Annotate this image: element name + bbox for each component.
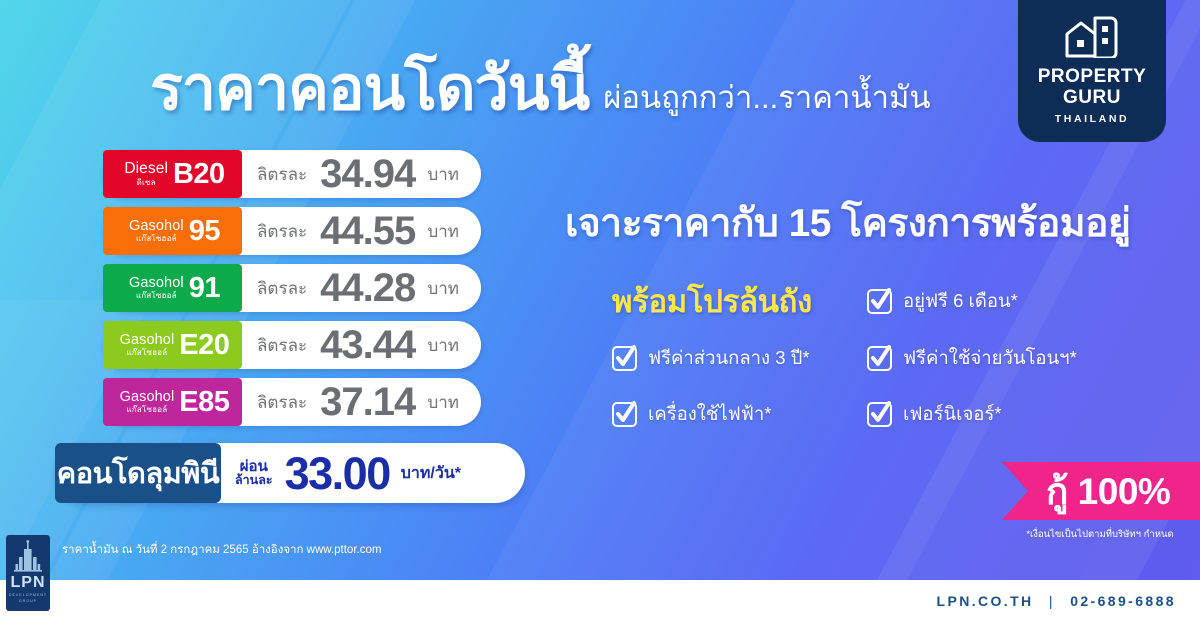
currency-label: บาท: [427, 218, 459, 245]
fuel-info: ลิตรละ 43.44 บาท: [242, 321, 481, 369]
unit-label: ลิตรละ: [257, 218, 307, 245]
installment-label: ผ่อน ล้านละ: [235, 459, 273, 488]
fuel-price: 34.94: [320, 154, 415, 194]
logo-country: THAILAND: [1055, 113, 1129, 125]
page-title: ราคาคอนโดวันนี้: [150, 58, 589, 119]
promo-label: ฟรีค่าใช้จ่ายวันโอนฯ*: [903, 344, 1077, 373]
logo-name: PROPERTY GURU: [1038, 67, 1147, 108]
loan-ribbon-note: *เงื่อนไขเป็นไปตามที่บริษัทฯ กำหนด: [1000, 527, 1200, 542]
fuel-grade: B20: [173, 158, 225, 191]
fuel-row: Gasohol แก๊สโซฮอล์ E20 ลิตรละ 43.44 บาท: [103, 321, 481, 369]
promo-label: เฟอร์นิเจอร์*: [903, 400, 1002, 429]
fuel-brand-thai: แก๊สโซฮอล์: [127, 406, 168, 414]
checkbox-icon: [867, 402, 892, 427]
phone-number[interactable]: 02-689-6888: [1070, 593, 1176, 609]
building-house-icon: [1061, 14, 1123, 58]
fuel-info: ลิตรละ 44.28 บาท: [242, 264, 481, 312]
fuel-brand: Diesel: [124, 161, 168, 177]
promo-label: อยู่ฟรี 6 เดือน*: [903, 287, 1018, 316]
fuel-grade: E85: [179, 386, 229, 419]
ad-banner: ราคาคอนโดวันนี้ ผ่อนถูกกว่า...ราคาน้ำมัน…: [0, 0, 1200, 630]
promo-item: อยู่ฟรี 6 เดือน*: [867, 287, 1132, 316]
fuel-grade: E20: [179, 329, 229, 362]
promo-heading: พร้อมโปรล้นถัง: [612, 276, 867, 326]
fuel-row: Diesel ดีเซล B20 ลิตรละ 34.94 บาท: [103, 150, 481, 198]
fuel-row: Gasohol แก๊สโซฮอล์ 95 ลิตรละ 44.55 บาท: [103, 207, 481, 255]
website-link[interactable]: LPN.CO.TH: [937, 593, 1034, 609]
promo-item: ฟรีค่าส่วนกลาง 3 ปี*: [612, 344, 867, 373]
condo-price: 33.00: [285, 451, 390, 496]
lpn-tagline: DEVELOPMENT GROUP: [9, 593, 47, 604]
condo-badge: คอนโดลุมพินี: [55, 443, 221, 503]
unit-label: ลิตรละ: [257, 275, 307, 302]
checkbox-icon: [612, 402, 637, 427]
fuel-brand-thai: ดีเซล: [137, 179, 156, 187]
condo-currency-label: บาท/วัน*: [401, 461, 461, 486]
fuel-brand-thai: แก๊สโซฮอล์: [136, 235, 177, 243]
fuel-info: ลิตรละ 44.55 บาท: [242, 207, 481, 255]
fuel-price: 37.14: [320, 382, 415, 422]
promo-label: เครื่องใช้ไฟฟ้า*: [648, 400, 771, 429]
fuel-badge: Diesel ดีเซล B20: [103, 150, 242, 198]
checkbox-icon: [867, 289, 892, 314]
checkbox-icon: [612, 346, 637, 371]
fuel-grade: 91: [189, 272, 220, 305]
fuel-badge: Gasohol แก๊สโซฮอล์ 95: [103, 207, 242, 255]
fuel-brand: Gasohol: [120, 333, 175, 348]
loan-ribbon: กู้ 100%: [1002, 462, 1200, 520]
propertyguru-logo[interactable]: PROPERTY GURU THAILAND: [1018, 0, 1166, 142]
condo-price-row: คอนโดลุมพินี ผ่อน ล้านละ 33.00 บาท/วัน*: [55, 443, 525, 503]
promo-label: ฟรีค่าส่วนกลาง 3 ปี*: [648, 344, 810, 373]
promo-item: เฟอร์นิเจอร์*: [867, 400, 1132, 429]
promo-item: เครื่องใช้ไฟฟ้า*: [612, 400, 867, 429]
lpn-logo[interactable]: LPN DEVELOPMENT GROUP: [6, 535, 50, 611]
condo-info: ผ่อน ล้านละ 33.00 บาท/วัน*: [221, 443, 525, 503]
tower-icon: [13, 540, 43, 572]
right-panel-title: เจาะราคากับ 15 โครงการพร้อมอยู่: [565, 192, 1130, 254]
separator: |: [1049, 593, 1055, 609]
lpn-name: LPN: [11, 575, 46, 591]
promo-item: ฟรีค่าใช้จ่ายวันโอนฯ*: [867, 344, 1132, 373]
page-subtitle: ผ่อนถูกกว่า...ราคาน้ำมัน: [603, 82, 930, 119]
fuel-brand: Gasohol: [129, 276, 184, 291]
currency-label: บาท: [427, 389, 459, 416]
fuel-info: ลิตรละ 37.14 บาท: [242, 378, 481, 426]
fuel-info: ลิตรละ 34.94 บาท: [242, 150, 481, 198]
condo-badge-label: คอนโดลุมพินี: [57, 450, 219, 496]
contact-info: LPN.CO.TH | 02-689-6888: [937, 593, 1177, 609]
fuel-brand-thai: แก๊สโซฮอล์: [136, 292, 177, 300]
unit-label: ลิตรละ: [257, 332, 307, 359]
loan-ribbon-label: กู้ 100%: [1046, 462, 1170, 521]
fuel-price: 44.55: [320, 211, 415, 251]
fuel-row: Gasohol แก๊สโซฮอล์ E85 ลิตรละ 37.14 บาท: [103, 378, 481, 426]
headline-group: ราคาคอนโดวันนี้ ผ่อนถูกกว่า...ราคาน้ำมัน: [150, 47, 1010, 119]
fuel-brand: Gasohol: [120, 390, 175, 405]
fuel-row: Gasohol แก๊สโซฮอล์ 91 ลิตรละ 44.28 บาท: [103, 264, 481, 312]
fuel-badge: Gasohol แก๊สโซฮอล์ E20: [103, 321, 242, 369]
fuel-brand: Gasohol: [129, 219, 184, 234]
fuel-badge: Gasohol แก๊สโซฮอล์ 91: [103, 264, 242, 312]
unit-label: ลิตรละ: [257, 389, 307, 416]
fuel-badge: Gasohol แก๊สโซฮอล์ E85: [103, 378, 242, 426]
fuel-price: 43.44: [320, 325, 415, 365]
currency-label: บาท: [427, 332, 459, 359]
fuel-price-list: Diesel ดีเซล B20 ลิตรละ 34.94 บาท Gasoho…: [103, 150, 481, 435]
unit-label: ลิตรละ: [257, 161, 307, 188]
fuel-brand-thai: แก๊สโซฮอล์: [127, 349, 168, 357]
checkbox-icon: [867, 346, 892, 371]
currency-label: บาท: [427, 161, 459, 188]
fuel-grade: 95: [189, 215, 220, 248]
promo-grid: พร้อมโปรล้นถัง อยู่ฟรี 6 เดือน* ฟรีค่าส่…: [612, 272, 1132, 442]
currency-label: บาท: [427, 275, 459, 302]
fuel-source-note: ราคาน้ำมัน ณ วันที่ 2 กรกฎาคม 2565 อ้างอ…: [62, 541, 381, 559]
fuel-price: 44.28: [320, 268, 415, 308]
